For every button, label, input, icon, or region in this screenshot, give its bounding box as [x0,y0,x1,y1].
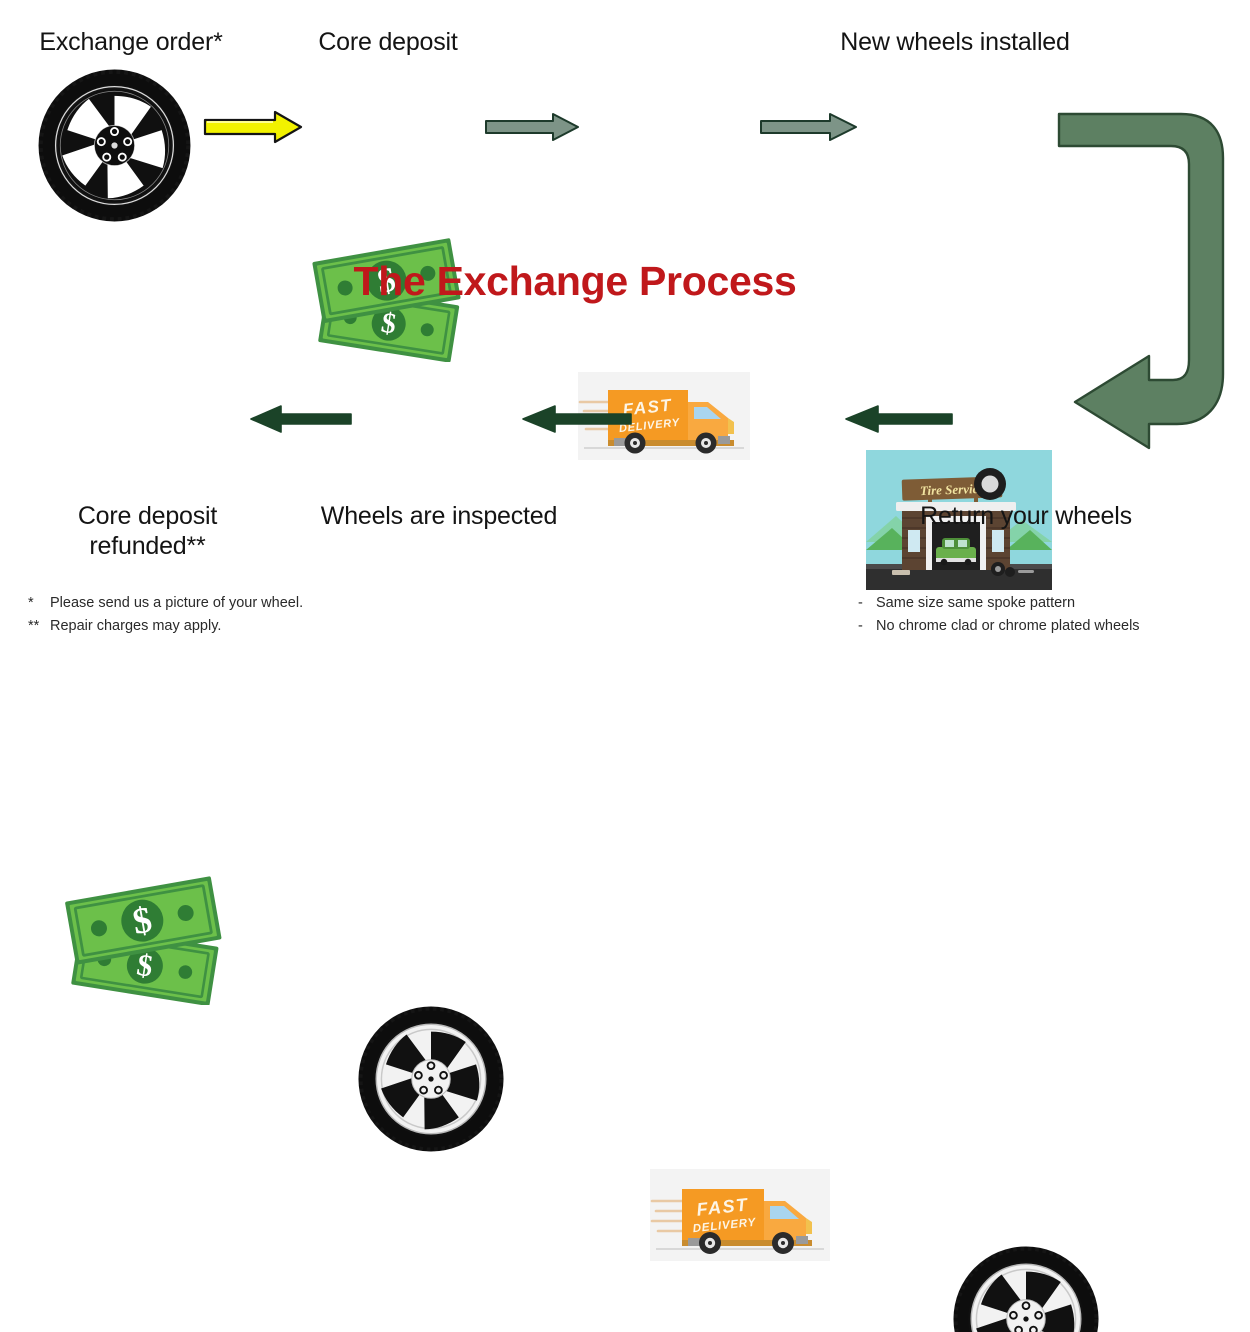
footnote-left-2-mark: ** [28,615,50,638]
arrow-order-to-deposit [203,110,303,144]
fast-delivery-truck-return-icon: FAST DELIVERY [650,1169,830,1261]
label-new-wheels-installed: New wheels installed [790,28,1120,58]
footnote-right-1-text: Same size same spoke pattern [876,592,1075,615]
arrow-install-to-return [1053,106,1233,456]
footnote-left-2: ** Repair charges may apply. [28,615,448,638]
footnote-right-2-mark: - [858,615,876,638]
label-core-deposit: Core deposit [268,28,508,58]
label-core-deposit-refunded: Core deposit refunded** [30,502,265,561]
black-alloy-wheel-icon [37,68,192,223]
label-wheels-are-inspected: Wheels are inspected [300,502,578,532]
footnotes-left: * Please send us a picture of your wheel… [28,592,448,639]
dollar-bills-refund-icon: $ $ [57,870,237,1005]
label-exchange-order: Exchange order* [0,28,262,58]
silver-alloy-wheel-inspected-icon [357,1005,505,1153]
silver-alloy-wheel-return-icon [952,1245,1100,1332]
arrow-shipping-to-install [760,112,858,142]
arrow-return-to-shipping-back [843,404,953,434]
arrow-inspection-to-refund [248,404,352,434]
label-core-deposit-refunded-line2: refunded** [30,532,265,562]
label-core-deposit-refunded-line1: Core deposit [30,502,265,532]
footnote-left-2-text: Repair charges may apply. [50,615,221,638]
footnotes-right: - Same size same spoke pattern - No chro… [858,592,1248,639]
footnote-left-1-mark: * [28,592,50,615]
footnote-left-1: * Please send us a picture of your wheel… [28,592,448,615]
label-return-your-wheels: Return your wheels [890,502,1162,532]
footnote-right-2-text: No chrome clad or chrome plated wheels [876,615,1140,638]
footnote-left-1-text: Please send us a picture of your wheel. [50,592,303,615]
arrow-deposit-to-shipping [485,112,580,142]
exchange-process-diagram: Exchange order* Core deposit New wheels … [0,0,1250,666]
page-title: The Exchange Process [175,258,975,305]
arrow-shipping-back-to-inspection [520,404,632,434]
footnote-right-2: - No chrome clad or chrome plated wheels [858,615,1248,638]
footnote-right-1-mark: - [858,592,876,615]
footnote-right-1: - Same size same spoke pattern [858,592,1248,615]
